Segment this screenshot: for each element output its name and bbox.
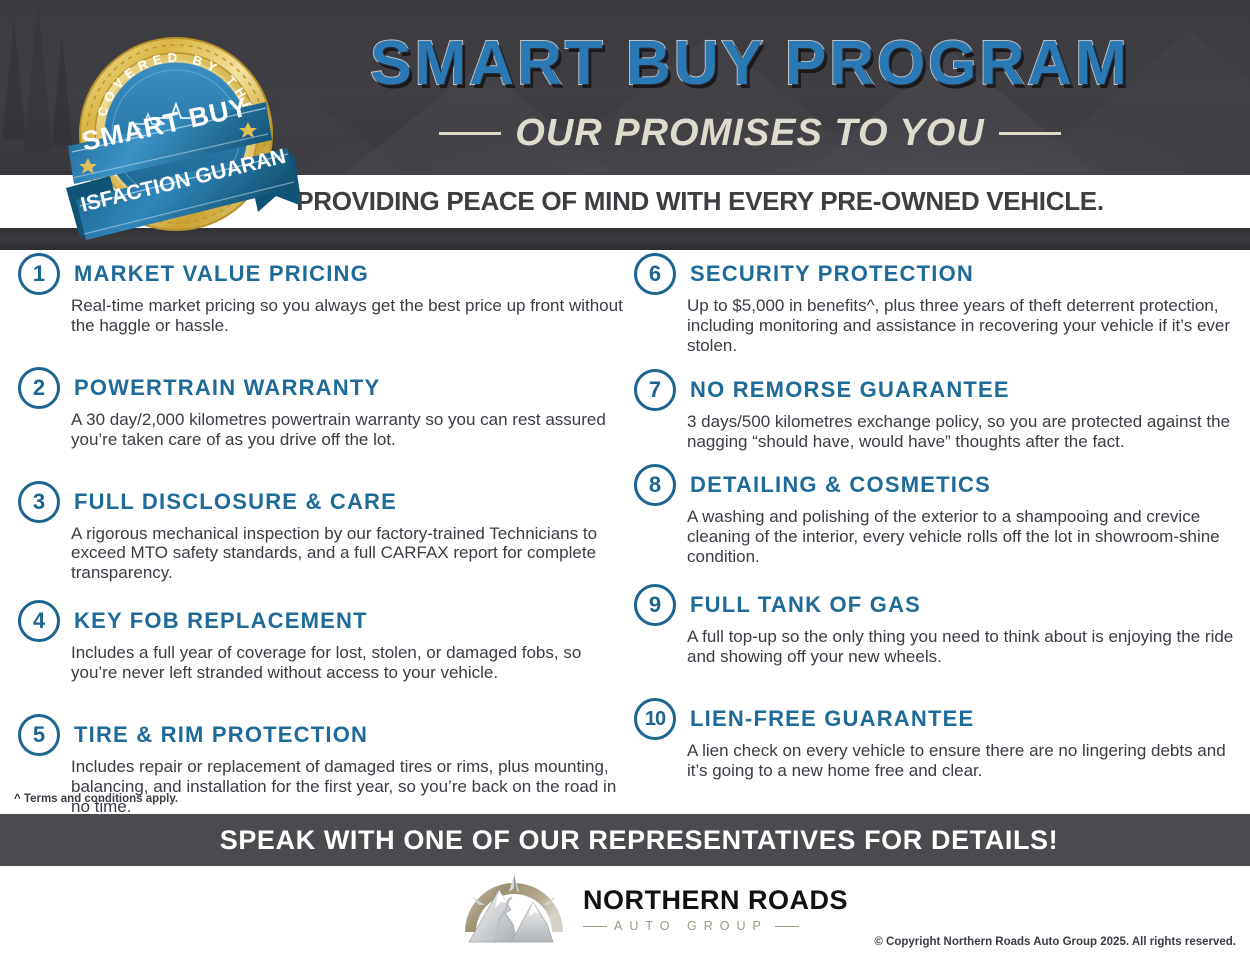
promises-right-column: 6 SECURITY PROTECTION Up to $5,000 in be… (634, 250, 1242, 787)
pine-tree-icon (2, 20, 26, 140)
promise-header: 9 FULL TANK OF GAS (634, 581, 1242, 629)
promise-description: A full top-up so the only thing you need… (687, 627, 1239, 667)
promise-description: A rigorous mechanical inspection by our … (71, 524, 623, 584)
promises-section: 1 MARKET VALUE PRICING Real-time market … (0, 250, 1250, 810)
promise-title: DETAILING & COSMETICS (690, 472, 991, 498)
promise-item: 3 FULL DISCLOSURE & CARE A rigorous mech… (18, 478, 626, 584)
promise-item: 1 MARKET VALUE PRICING Real-time market … (18, 250, 626, 336)
promise-header: 1 MARKET VALUE PRICING (18, 250, 626, 298)
promise-number-badge: 4 (18, 600, 60, 642)
smart-buy-satisfaction-guarantee-badge: COVERED BY THE (52, 16, 300, 248)
smart-buy-program-flyer: SMART BUY PROGRAM OUR PROMISES TO YOU PR… (0, 0, 1250, 960)
logo-company-name: NORTHERN ROADS (583, 887, 848, 914)
promise-header: 4 KEY FOB REPLACEMENT (18, 597, 626, 645)
promise-number-badge: 7 (634, 369, 676, 411)
promise-header: 2 POWERTRAIN WARRANTY (18, 364, 626, 412)
cta-text: SPEAK WITH ONE OF OUR REPRESENTATIVES FO… (192, 825, 1059, 856)
promise-title: NO REMORSE GUARANTEE (690, 377, 1010, 403)
promise-item: 9 FULL TANK OF GAS A full top-up so the … (634, 581, 1242, 667)
mountain-compass-icon (455, 872, 573, 948)
page-subtitle: OUR PROMISES TO YOU (515, 112, 984, 155)
promise-title: TIRE & RIM PROTECTION (74, 722, 368, 748)
promise-header: 3 FULL DISCLOSURE & CARE (18, 478, 626, 526)
promise-title: POWERTRAIN WARRANTY (74, 375, 380, 401)
page-title: SMART BUY PROGRAM (300, 33, 1200, 95)
promise-number-badge: 1 (18, 253, 60, 295)
promise-number-badge: 9 (634, 584, 676, 626)
promise-description: 3 days/500 kilometres exchange policy, s… (687, 412, 1239, 452)
promise-description: Includes a full year of coverage for los… (71, 643, 623, 683)
promise-number-badge: 8 (634, 464, 676, 506)
promise-title: LIEN-FREE GUARANTEE (690, 706, 974, 732)
promise-title: MARKET VALUE PRICING (74, 261, 369, 287)
promise-header: 6 SECURITY PROTECTION (634, 250, 1242, 298)
promise-header: 8 DETAILING & COSMETICS (634, 461, 1242, 509)
promise-title: FULL TANK OF GAS (690, 592, 921, 618)
logo-wordmark: NORTHERN ROADS AUTO GROUP (583, 887, 848, 933)
promise-item: 7 NO REMORSE GUARANTEE 3 days/500 kilome… (634, 366, 1242, 452)
promise-number-badge: 6 (634, 253, 676, 295)
promise-description: A washing and polishing of the exterior … (687, 507, 1239, 567)
promise-header: 5 TIRE & RIM PROTECTION (18, 711, 626, 759)
footer: NORTHERN ROADS AUTO GROUP © Copyright No… (0, 866, 1250, 960)
promise-number-badge: 3 (18, 481, 60, 523)
promise-number-badge: 5 (18, 714, 60, 756)
promise-header: 7 NO REMORSE GUARANTEE (634, 366, 1242, 414)
divider-right (999, 132, 1061, 135)
pine-tree-icon (24, 0, 52, 150)
promise-description: A 30 day/2,000 kilometres powertrain war… (71, 410, 623, 450)
promise-item: 8 DETAILING & COSMETICS A washing and po… (634, 461, 1242, 567)
promise-number-badge: 10 (634, 698, 676, 740)
divider-right (775, 926, 799, 927)
page-subtitle-group: OUR PROMISES TO YOU (300, 112, 1200, 155)
terms-footnote: ^ Terms and conditions apply. (14, 793, 178, 805)
promise-description: A lien check on every vehicle to ensure … (687, 741, 1239, 781)
promise-description: Real-time market pricing so you always g… (71, 296, 623, 336)
promise-description: Includes repair or replacement of damage… (71, 757, 623, 817)
divider-left (583, 926, 607, 927)
promise-number-badge: 2 (18, 367, 60, 409)
promise-title: FULL DISCLOSURE & CARE (74, 489, 397, 515)
divider-left (439, 132, 501, 135)
promise-title: SECURITY PROTECTION (690, 261, 974, 287)
promise-header: 10 LIEN-FREE GUARANTEE (634, 695, 1242, 743)
copyright-text: © Copyright Northern Roads Auto Group 20… (874, 936, 1236, 948)
promise-item: 10 LIEN-FREE GUARANTEE A lien check on e… (634, 695, 1242, 781)
promises-left-column: 1 MARKET VALUE PRICING Real-time market … (18, 250, 626, 823)
northern-roads-logo: NORTHERN ROADS AUTO GROUP (455, 872, 848, 948)
logo-subtitle: AUTO GROUP (614, 920, 768, 933)
cta-bar: SPEAK WITH ONE OF OUR REPRESENTATIVES FO… (0, 814, 1250, 866)
promise-item: 4 KEY FOB REPLACEMENT Includes a full ye… (18, 597, 626, 683)
promise-description: Up to $5,000 in benefits^, plus three ye… (687, 296, 1239, 356)
promise-item: 2 POWERTRAIN WARRANTY A 30 day/2,000 kil… (18, 364, 626, 450)
promise-title: KEY FOB REPLACEMENT (74, 608, 368, 634)
promise-item: 6 SECURITY PROTECTION Up to $5,000 in be… (634, 250, 1242, 356)
logo-subtitle-group: AUTO GROUP (583, 920, 848, 933)
